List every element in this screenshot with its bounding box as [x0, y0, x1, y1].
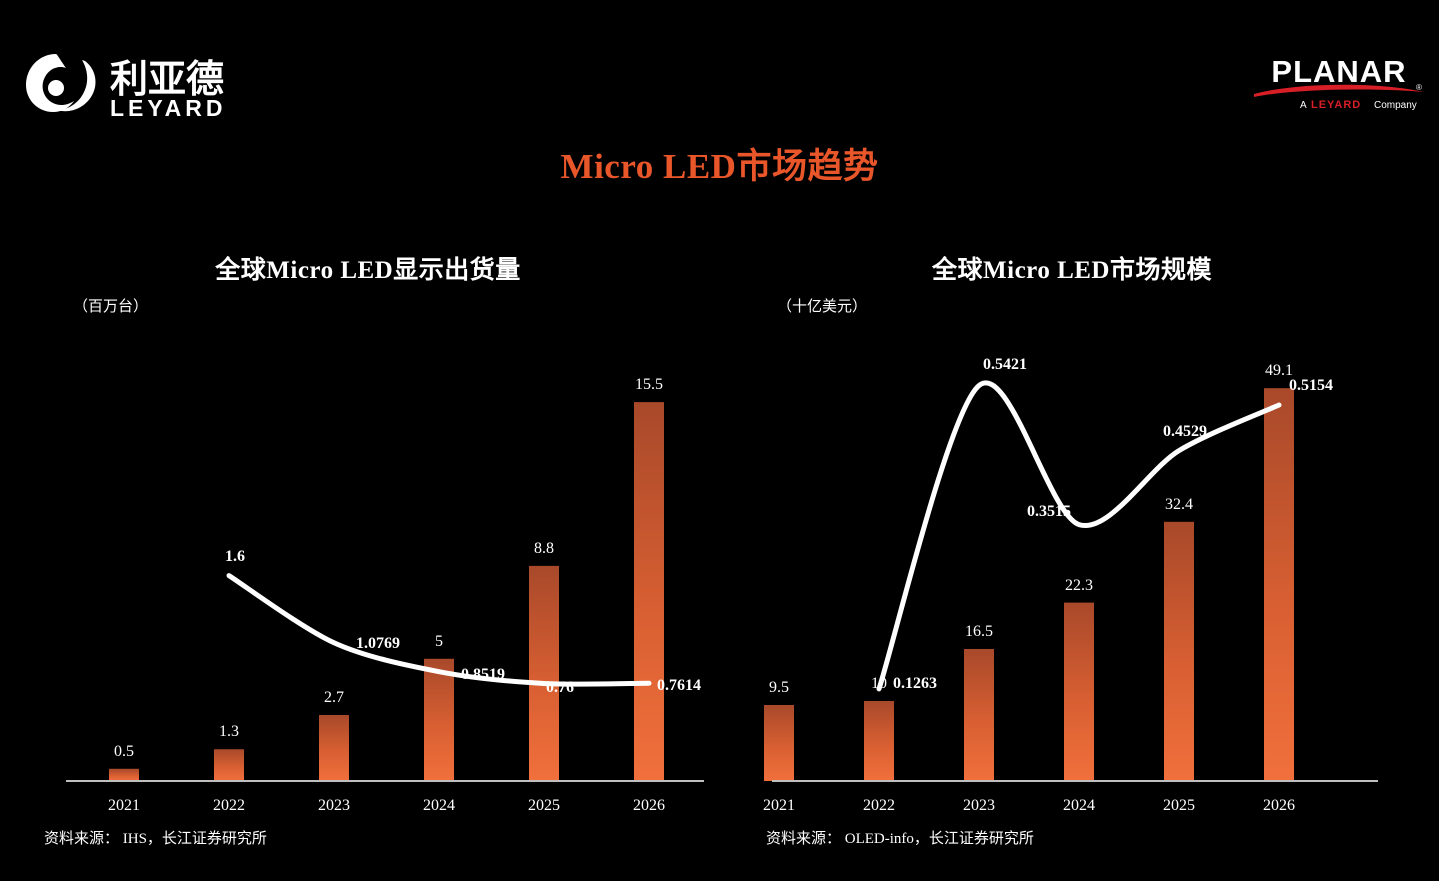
bar-value-label-2025: 8.8	[534, 540, 554, 558]
planar-tagline: A LEYARD Company	[1300, 99, 1417, 111]
bar-2025	[1164, 522, 1194, 781]
leyard-logo-en-text: LEYARD	[110, 95, 226, 120]
x-tick-2022: 2022	[213, 797, 245, 815]
x-tick-2024: 2024	[423, 797, 455, 815]
bar-2023	[319, 715, 349, 781]
bar-2022	[864, 701, 894, 781]
bar-value-label-2024: 22.3	[1065, 577, 1093, 595]
line-value-label-2023: 0.5421	[983, 356, 1027, 374]
line-value-label-2022: 0.1263	[893, 675, 937, 693]
source-note-right: 资料来源： OLED-info，长江证券研究所	[766, 827, 1034, 848]
bar-value-label-2024: 5	[435, 633, 443, 651]
bar-2026	[1264, 388, 1294, 781]
leyard-logo: 利亚德 LEYARD	[22, 48, 322, 120]
x-tick-2023: 2023	[963, 797, 995, 815]
bar-2025	[529, 566, 559, 781]
svg-text:A: A	[1300, 100, 1307, 111]
leyard-swirl-icon	[26, 54, 96, 112]
bar-value-label-2022: 1.3	[219, 723, 239, 741]
x-tick-2021: 2021	[763, 797, 795, 815]
x-tick-2022: 2022	[863, 797, 895, 815]
svg-text:LEYARD: LEYARD	[1311, 99, 1361, 111]
line-value-label-2025: 0.76	[546, 679, 574, 697]
bar-2021	[764, 705, 794, 781]
page-title: Micro LED市场趋势	[0, 138, 1439, 189]
line-value-label-2023: 1.0769	[356, 635, 400, 653]
x-tick-2024: 2024	[1063, 797, 1095, 815]
planar-wordmark: PLANAR	[1271, 54, 1406, 89]
bar-2024	[424, 659, 454, 781]
bar-2023	[964, 649, 994, 781]
line-value-label-2026: 0.7614	[657, 677, 701, 695]
x-tick-2026: 2026	[633, 797, 665, 815]
chart-panel-market-size: 全球Micro LED市场规模 （十亿美元） 9.51016.522.332.4…	[722, 240, 1422, 860]
bar-2026	[634, 402, 664, 781]
line-value-label-2026: 0.5154	[1289, 377, 1333, 395]
source-note-left: 资料来源： IHS，长江证券研究所	[44, 827, 267, 848]
planar-logo: PLANAR ® A LEYARD Company	[1248, 52, 1430, 114]
bar-value-label-2021: 9.5	[769, 679, 789, 697]
bar-2024	[1064, 603, 1094, 781]
x-tick-2026: 2026	[1263, 797, 1295, 815]
bar-group-left	[109, 402, 664, 781]
line-value-label-2024: 0.8519	[461, 666, 505, 684]
bar-value-label-2025: 32.4	[1165, 496, 1193, 514]
bar-value-label-2023: 16.5	[965, 623, 993, 641]
bar-value-label-2026: 15.5	[635, 376, 663, 394]
bar-2021	[109, 769, 139, 781]
chart-heading-left: 全球Micro LED显示出货量	[18, 250, 718, 286]
line-value-label-2025: 0.4529	[1163, 423, 1207, 441]
x-tick-2025: 2025	[528, 797, 560, 815]
chart-panel-shipments: 全球Micro LED显示出货量 （百万台） 0.51.32.758.815.5…	[18, 240, 718, 860]
x-tick-2021: 2021	[108, 797, 140, 815]
line-value-label-2022: 1.6	[225, 548, 245, 566]
svg-text:Company: Company	[1374, 100, 1417, 111]
bar-2022	[214, 749, 244, 781]
bar-value-label-2021: 0.5	[114, 743, 134, 761]
plot-area-left: 0.51.32.758.815.51.61.07690.85190.760.76…	[18, 310, 718, 860]
bar-value-label-2023: 2.7	[324, 689, 344, 707]
line-value-label-2024: 0.3515	[1027, 503, 1071, 521]
x-tick-2023: 2023	[318, 797, 350, 815]
chart-heading-right: 全球Micro LED市场规模	[722, 250, 1422, 286]
plot-area-right: 9.51016.522.332.449.10.12630.54210.35150…	[722, 310, 1422, 860]
x-tick-2025: 2025	[1163, 797, 1195, 815]
bar-value-label-2022: 10	[871, 675, 887, 693]
